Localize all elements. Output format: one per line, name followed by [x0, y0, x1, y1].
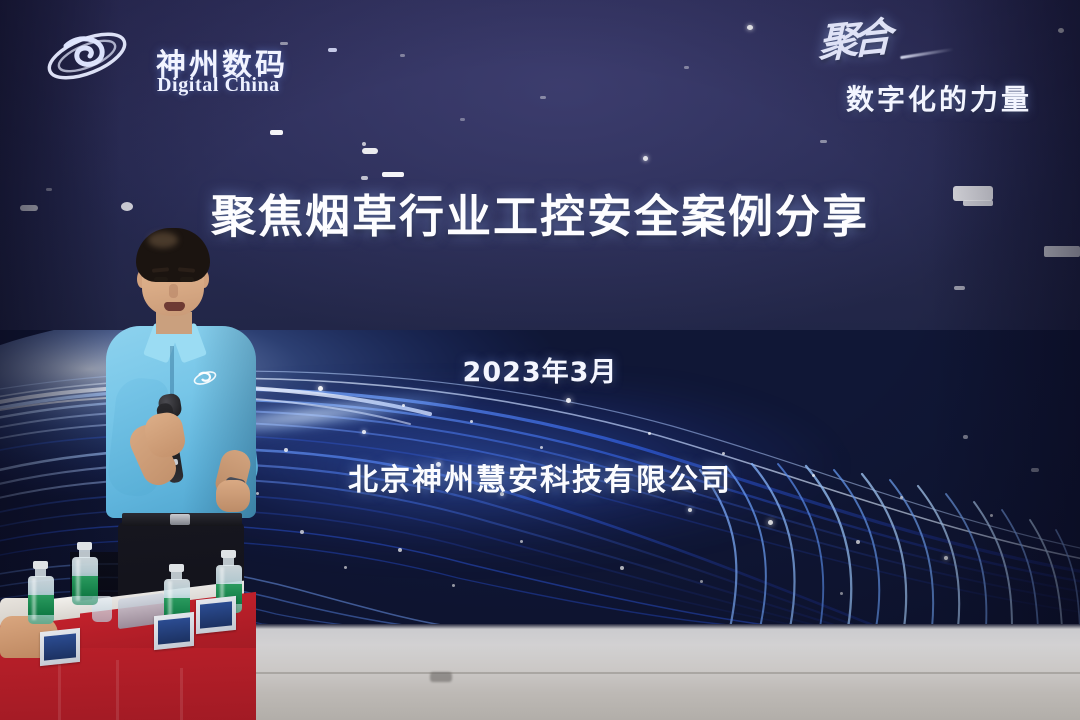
- logo-english-name: Digital China: [157, 74, 280, 97]
- cloth-fold: [116, 660, 119, 720]
- bottle-neck: [79, 549, 90, 558]
- shirt-logo-icon: [192, 368, 218, 388]
- stage-floor-mark: [430, 672, 452, 682]
- speaker-shirt-placket: [170, 346, 174, 396]
- conference-photo: 神州数码 Digital China 聚合 数字化的力量 聚焦烟草行业工控安全案…: [0, 0, 1080, 720]
- speaker-nose: [169, 284, 178, 298]
- speaker-belt-buckle: [170, 514, 190, 525]
- speaker-hair-highlight: [148, 232, 178, 248]
- speaker-eye-left: [154, 277, 168, 282]
- name-card: [40, 628, 80, 666]
- table-skirt-lower: [0, 648, 256, 720]
- bottle-neck: [223, 557, 234, 566]
- bottle-cap: [169, 564, 184, 572]
- logo-accent-dot: [328, 48, 337, 52]
- bottle-neck: [171, 571, 182, 580]
- speaker-right-hand: [216, 480, 250, 512]
- cloth-fold: [180, 668, 183, 720]
- bottle-cap: [221, 550, 236, 558]
- bottle-highlight: [32, 578, 36, 620]
- bottle-neck: [35, 568, 46, 577]
- name-card: [196, 596, 236, 634]
- bottle-cap: [33, 561, 48, 569]
- name-card-face: [200, 601, 232, 628]
- digital-china-swirl-icon: [44, 24, 130, 88]
- event-slogan: 数字化的力量: [846, 78, 1032, 118]
- speaker-eye-right: [180, 277, 194, 282]
- name-card-face: [44, 633, 76, 660]
- name-card-face: [158, 617, 190, 644]
- bottle-highlight: [76, 559, 80, 601]
- speaker-mouth: [164, 302, 185, 311]
- name-card: [154, 612, 194, 650]
- bottle-cap: [77, 542, 92, 550]
- digital-china-logo: 神州数码 Digital China: [44, 18, 314, 98]
